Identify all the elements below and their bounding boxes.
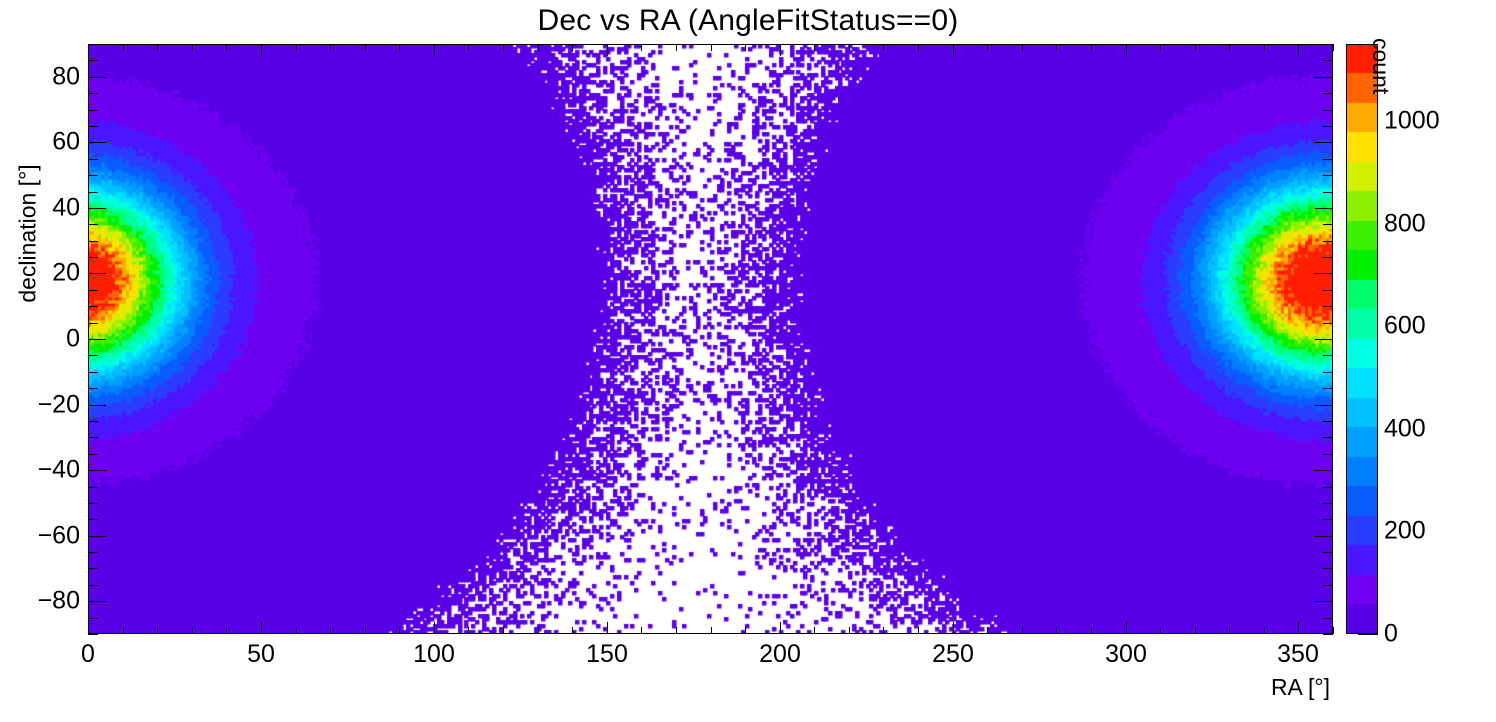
x-major-tick-top: [1298, 44, 1299, 56]
y-major-tick-right: [1315, 470, 1333, 471]
y-minor-tick: [88, 192, 98, 193]
x-minor-tick: [538, 627, 539, 634]
x-minor-tick-top: [123, 44, 124, 51]
y-major-tick: [88, 339, 106, 340]
y-major-tick: [88, 405, 106, 406]
x-minor-tick: [711, 627, 712, 634]
x-major-tick: [88, 622, 89, 634]
y-minor-tick: [88, 290, 98, 291]
heatmap-canvas: [88, 44, 1333, 634]
z-tick: [1358, 634, 1378, 635]
y-minor-tick: [88, 552, 98, 553]
x-minor-tick: [1333, 627, 1334, 634]
y-minor-tick-right: [1323, 618, 1333, 619]
x-minor-tick-top: [849, 44, 850, 51]
y-minor-tick: [88, 241, 98, 242]
x-minor-tick-top: [365, 44, 366, 51]
x-axis-title: RA [°]: [1170, 676, 1330, 699]
chart-root: Dec vs RA (AngleFitStatus==0) 0501001502…: [0, 0, 1496, 722]
x-major-tick: [780, 622, 781, 634]
y-minor-tick: [88, 618, 98, 619]
y-tick-label: −20: [0, 393, 80, 418]
x-minor-tick-top: [296, 44, 297, 51]
x-minor-tick-top: [641, 44, 642, 51]
y-minor-tick-right: [1323, 93, 1333, 94]
x-major-tick: [1126, 622, 1127, 634]
x-minor-tick: [745, 627, 746, 634]
y-minor-tick-right: [1323, 585, 1333, 586]
y-minor-tick-right: [1323, 126, 1333, 127]
x-minor-tick: [1160, 627, 1161, 634]
y-minor-tick-right: [1323, 290, 1333, 291]
y-minor-tick-right: [1323, 454, 1333, 455]
y-minor-tick: [88, 110, 98, 111]
y-major-tick: [88, 142, 106, 143]
y-minor-tick: [88, 224, 98, 225]
x-minor-tick: [1229, 627, 1230, 634]
y-minor-tick-right: [1323, 519, 1333, 520]
x-minor-tick-top: [1160, 44, 1161, 51]
x-minor-tick-top: [192, 44, 193, 51]
x-minor-tick-top: [918, 44, 919, 51]
x-minor-tick-top: [226, 44, 227, 51]
x-minor-tick: [1056, 627, 1057, 634]
y-minor-tick: [88, 487, 98, 488]
y-axis-title: declination [°]: [17, 134, 40, 334]
x-major-tick: [607, 622, 608, 634]
x-major-tick: [1298, 622, 1299, 634]
y-tick-label: 80: [0, 65, 80, 90]
y-minor-tick: [88, 568, 98, 569]
x-minor-tick: [192, 627, 193, 634]
y-minor-tick-right: [1323, 634, 1333, 635]
x-major-tick-top: [88, 44, 89, 56]
x-minor-tick-top: [1333, 44, 1334, 51]
x-minor-tick-top: [1229, 44, 1230, 51]
y-minor-tick-right: [1323, 60, 1333, 61]
y-minor-tick: [88, 355, 98, 356]
y-minor-tick: [88, 454, 98, 455]
y-tick-label: −80: [0, 589, 80, 614]
x-minor-tick-top: [745, 44, 746, 51]
y-tick-label: −40: [0, 458, 80, 483]
y-minor-tick-right: [1323, 503, 1333, 504]
x-major-tick-top: [607, 44, 608, 56]
x-major-tick: [953, 622, 954, 634]
x-major-tick: [261, 622, 262, 634]
x-major-tick-top: [434, 44, 435, 56]
y-minor-tick: [88, 634, 98, 635]
y-minor-tick: [88, 126, 98, 127]
y-minor-tick: [88, 60, 98, 61]
page-title: Dec vs RA (AngleFitStatus==0): [0, 2, 1496, 40]
y-major-tick-right: [1315, 77, 1333, 78]
y-minor-tick-right: [1323, 323, 1333, 324]
y-minor-tick-right: [1323, 372, 1333, 373]
y-minor-tick-right: [1323, 421, 1333, 422]
x-minor-tick: [399, 627, 400, 634]
y-major-tick: [88, 536, 106, 537]
y-minor-tick-right: [1323, 175, 1333, 176]
y-minor-tick: [88, 503, 98, 504]
x-minor-tick: [641, 627, 642, 634]
x-minor-tick-top: [1195, 44, 1196, 51]
y-minor-tick: [88, 306, 98, 307]
y-major-tick-right: [1315, 339, 1333, 340]
x-minor-tick-top: [1091, 44, 1092, 51]
y-major-tick-right: [1315, 601, 1333, 602]
colorbar-title: count: [1369, 38, 1392, 198]
y-minor-tick-right: [1323, 552, 1333, 553]
z-tick-label: 400: [1384, 417, 1426, 442]
x-minor-tick: [849, 627, 850, 634]
y-minor-tick: [88, 388, 98, 389]
z-tick-label: 200: [1384, 519, 1426, 544]
y-major-tick: [88, 77, 106, 78]
x-tick-label: 300: [1105, 642, 1147, 667]
y-minor-tick-right: [1323, 159, 1333, 160]
y-minor-tick-right: [1323, 437, 1333, 438]
x-minor-tick-top: [157, 44, 158, 51]
y-major-tick-right: [1315, 273, 1333, 274]
y-minor-tick-right: [1323, 306, 1333, 307]
y-minor-tick: [88, 437, 98, 438]
y-minor-tick: [88, 257, 98, 258]
x-minor-tick: [468, 627, 469, 634]
y-minor-tick-right: [1323, 241, 1333, 242]
x-minor-tick: [123, 627, 124, 634]
x-minor-tick: [503, 627, 504, 634]
y-minor-tick-right: [1323, 192, 1333, 193]
y-minor-tick-right: [1323, 44, 1333, 45]
y-minor-tick: [88, 44, 98, 45]
y-tick-label: 60: [0, 130, 80, 155]
y-minor-tick: [88, 421, 98, 422]
x-minor-tick-top: [538, 44, 539, 51]
y-major-tick-right: [1315, 142, 1333, 143]
z-tick-label: 800: [1384, 212, 1426, 237]
y-major-tick: [88, 273, 106, 274]
x-minor-tick-top: [468, 44, 469, 51]
x-minor-tick-top: [330, 44, 331, 51]
z-tick-label: 0: [1384, 622, 1398, 647]
x-minor-tick: [572, 627, 573, 634]
y-minor-tick: [88, 323, 98, 324]
x-minor-tick-top: [1022, 44, 1023, 51]
z-tick-label: 600: [1384, 314, 1426, 339]
x-major-tick-top: [261, 44, 262, 56]
x-minor-tick: [918, 627, 919, 634]
y-minor-tick: [88, 372, 98, 373]
x-minor-tick-top: [572, 44, 573, 51]
y-minor-tick-right: [1323, 110, 1333, 111]
x-minor-tick: [1022, 627, 1023, 634]
x-tick-label: 0: [81, 642, 95, 667]
x-minor-tick-top: [711, 44, 712, 51]
y-minor-tick-right: [1323, 388, 1333, 389]
x-minor-tick-top: [676, 44, 677, 51]
y-major-tick: [88, 470, 106, 471]
x-minor-tick-top: [1056, 44, 1057, 51]
y-major-tick: [88, 208, 106, 209]
y-minor-tick-right: [1323, 257, 1333, 258]
y-minor-tick-right: [1323, 224, 1333, 225]
x-minor-tick: [330, 627, 331, 634]
x-minor-tick-top: [814, 44, 815, 51]
x-minor-tick-top: [987, 44, 988, 51]
x-minor-tick-top: [399, 44, 400, 51]
x-tick-label: 50: [247, 642, 275, 667]
x-minor-tick: [987, 627, 988, 634]
z-tick-label: 1000: [1384, 109, 1440, 134]
y-minor-tick-right: [1323, 355, 1333, 356]
x-tick-label: 200: [759, 642, 801, 667]
x-minor-tick: [814, 627, 815, 634]
x-minor-tick: [365, 627, 366, 634]
y-minor-tick: [88, 175, 98, 176]
x-minor-tick: [296, 627, 297, 634]
x-minor-tick: [1091, 627, 1092, 634]
x-major-tick: [434, 622, 435, 634]
x-tick-label: 100: [413, 642, 455, 667]
x-minor-tick-top: [1264, 44, 1265, 51]
x-minor-tick: [1264, 627, 1265, 634]
y-minor-tick: [88, 159, 98, 160]
x-minor-tick: [883, 627, 884, 634]
x-minor-tick: [1195, 627, 1196, 634]
x-major-tick-top: [1126, 44, 1127, 56]
y-minor-tick-right: [1323, 568, 1333, 569]
y-major-tick-right: [1315, 208, 1333, 209]
x-major-tick-top: [953, 44, 954, 56]
y-major-tick-right: [1315, 405, 1333, 406]
x-tick-label: 250: [932, 642, 974, 667]
y-tick-label: −60: [0, 524, 80, 549]
x-minor-tick: [157, 627, 158, 634]
x-major-tick-top: [780, 44, 781, 56]
x-minor-tick: [226, 627, 227, 634]
y-minor-tick-right: [1323, 487, 1333, 488]
x-minor-tick: [676, 627, 677, 634]
y-tick-label: 0: [0, 327, 80, 352]
x-tick-label: 350: [1277, 642, 1319, 667]
y-minor-tick: [88, 519, 98, 520]
x-tick-label: 150: [586, 642, 628, 667]
y-major-tick: [88, 601, 106, 602]
x-minor-tick-top: [883, 44, 884, 51]
x-minor-tick-top: [503, 44, 504, 51]
y-minor-tick: [88, 93, 98, 94]
y-minor-tick: [88, 585, 98, 586]
y-major-tick-right: [1315, 536, 1333, 537]
